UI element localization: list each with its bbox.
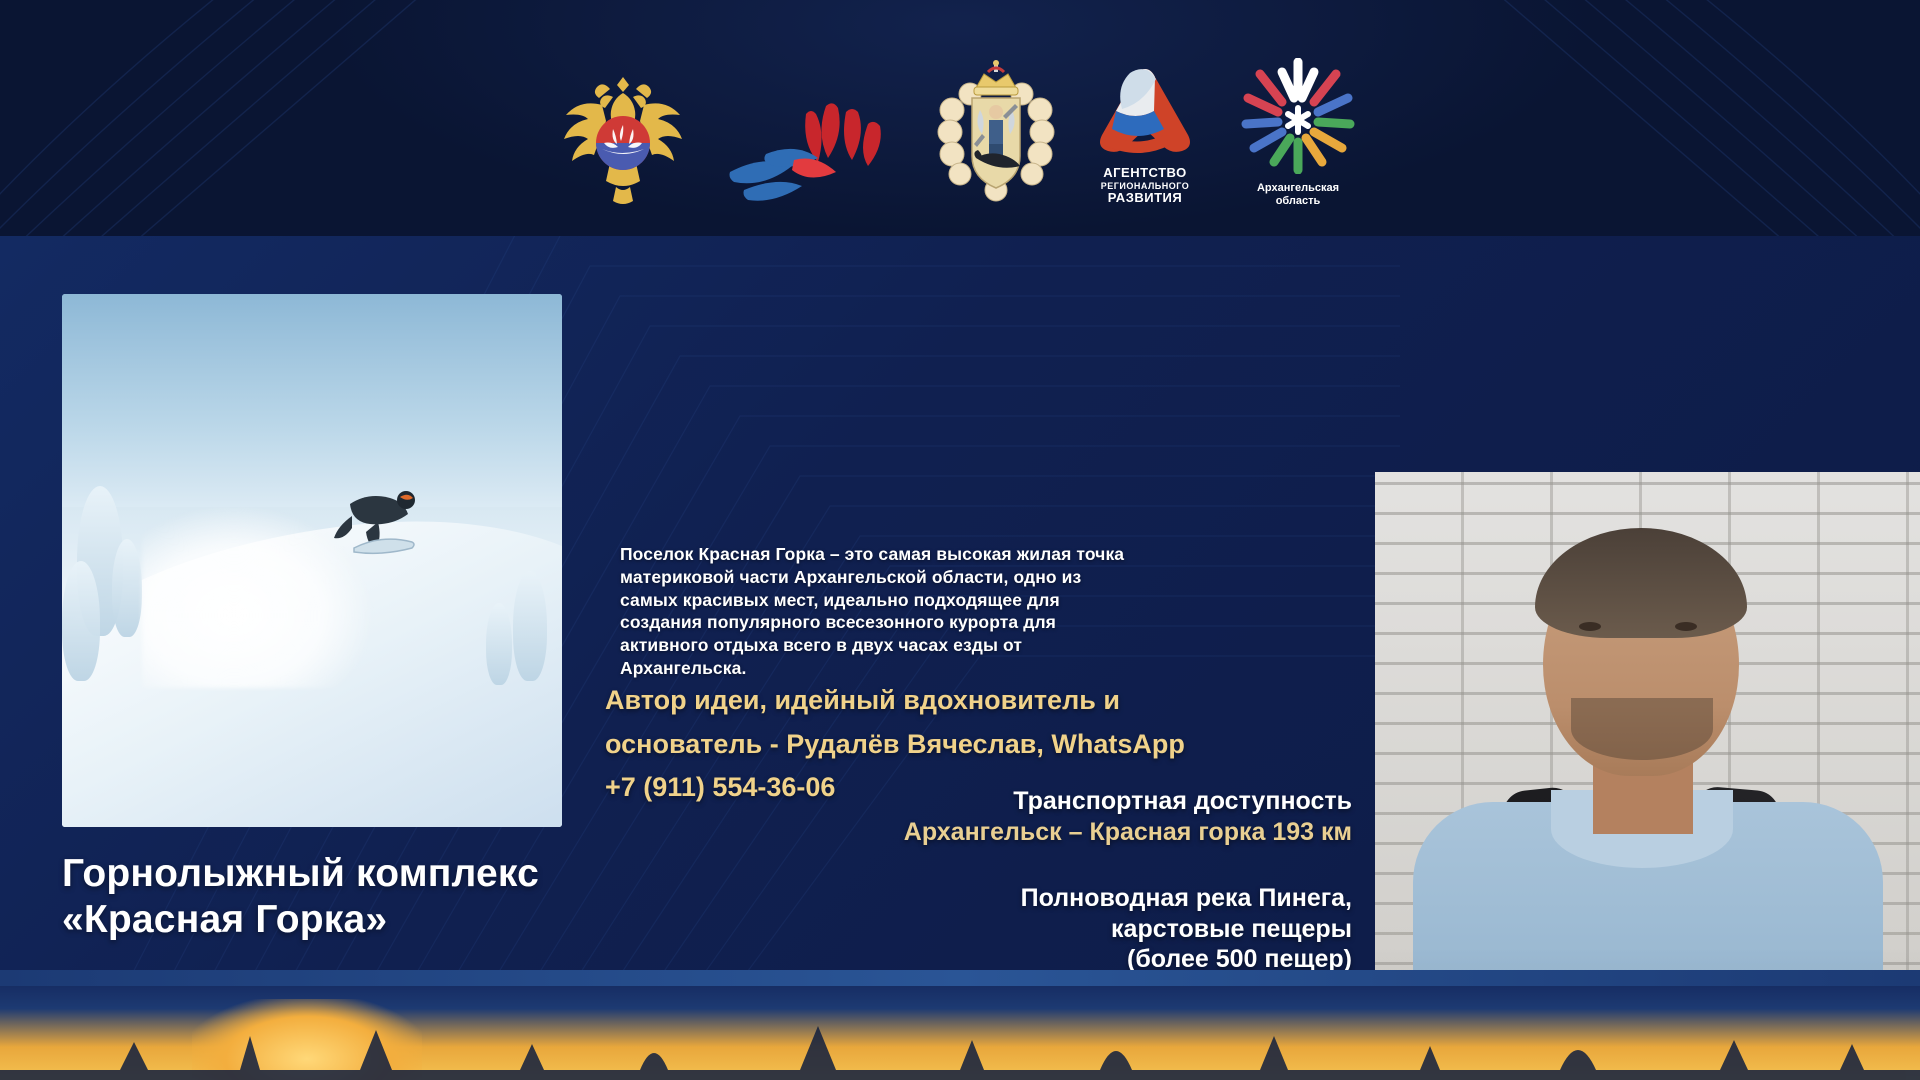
ministry-culture-eagle-icon	[558, 63, 688, 208]
arkhangelsk-coat-of-arms-icon	[936, 58, 1056, 208]
slide-body: Горнолыжный комплекс «Красная Горка» Пос…	[0, 236, 1920, 1026]
snow-tree	[513, 571, 547, 681]
snow-tree	[62, 561, 100, 681]
footer-city-silhouette	[0, 1002, 1920, 1080]
agency-regional-development-logo: АГЕНТСТВО РЕГИОНАЛЬНОГО РАЗВИТИЯ	[1090, 63, 1200, 208]
description-paragraph: Поселок Красная Горка – это самая высока…	[620, 543, 1140, 680]
slide-header: АГЕНТСТВО РЕГИОНАЛЬНОГО РАЗВИТИЯ	[0, 0, 1920, 236]
feature-transport-title: Транспортная доступность	[592, 786, 1352, 817]
snow-tree	[486, 603, 512, 685]
logo-row: АГЕНТСТВО РЕГИОНАЛЬНОГО РАЗВИТИЯ	[0, 18, 1920, 208]
ski-resort-photo	[62, 294, 562, 827]
slide-footer	[0, 970, 1920, 1080]
feature-transport: Транспортная доступность Архангельск – К…	[592, 786, 1352, 847]
feature-river-caves: Полноводная река Пинега, карстовые пещер…	[592, 883, 1352, 975]
founder-portrait-photo	[1375, 472, 1920, 1026]
feature-river-line-1: Полноводная река Пинега,	[592, 883, 1352, 914]
photo-sky	[62, 294, 562, 507]
feature-river-line-2: карстовые пещеры	[592, 914, 1352, 945]
author-line-1: Автор идеи, идейный вдохновитель и	[605, 679, 1305, 723]
tourism-flower-icon	[722, 98, 902, 208]
region-line-2: область	[1234, 195, 1362, 208]
presentation-slide: АГЕНТСТВО РЕГИОНАЛЬНОГО РАЗВИТИЯ	[0, 0, 1920, 1080]
author-line-2: основатель - Рудалёв Вячеслав, WhatsApp	[605, 723, 1305, 767]
agency-line-3: РАЗВИТИЯ	[1090, 191, 1200, 206]
region-line-1: Архангельская	[1234, 182, 1362, 195]
arkhangelsk-region-star-logo: Архангельская область	[1234, 58, 1362, 208]
snowboarder-figure	[332, 486, 442, 564]
footer-top-band	[0, 970, 1920, 986]
snow-tree	[112, 539, 142, 637]
portrait-vignette	[1375, 472, 1920, 1026]
feature-transport-detail: Архангельск – Красная горка 193 км	[592, 817, 1352, 848]
agency-line-1: АГЕНТСТВО	[1090, 166, 1200, 181]
